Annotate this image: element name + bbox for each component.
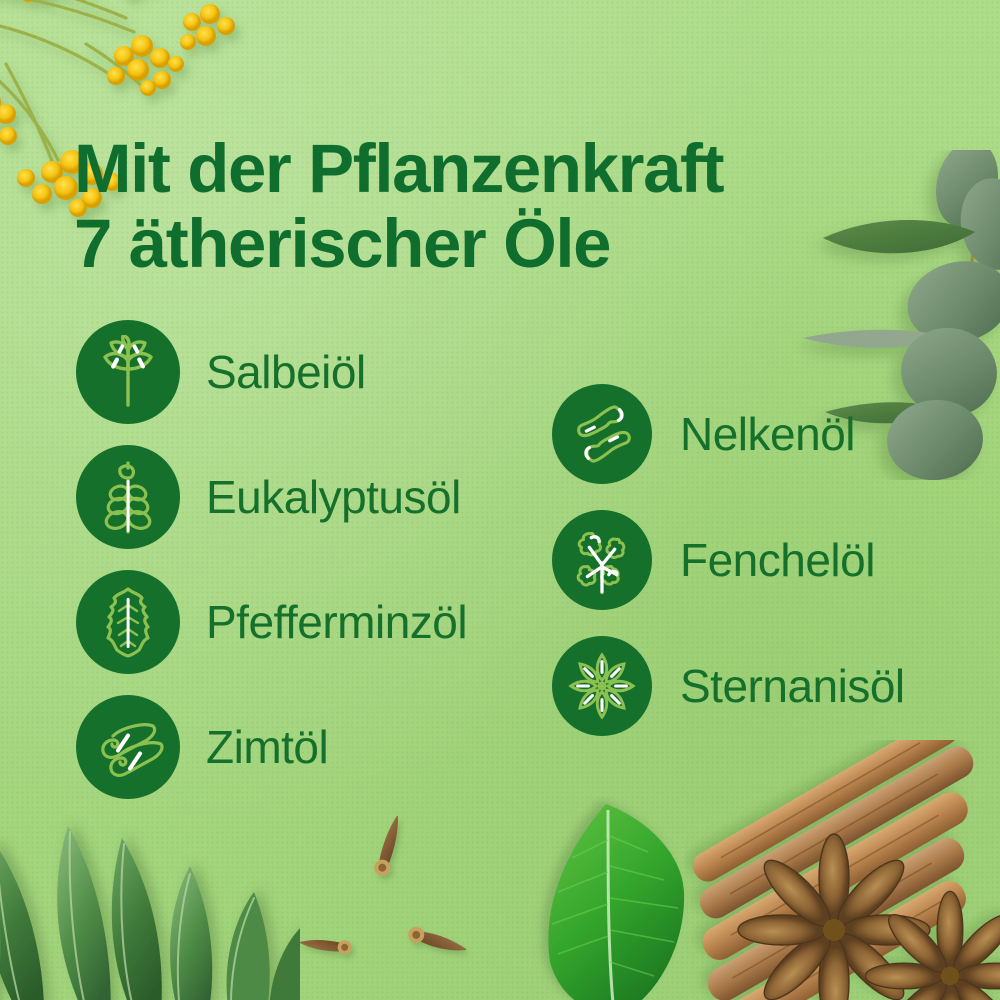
cinnamon-sticks-icon: [76, 695, 180, 799]
oil-label: Nelkenöl: [680, 407, 855, 461]
oil-item-sternanisoel: Sternanisöl: [552, 634, 905, 738]
oil-label: Eukalyptusöl: [206, 470, 461, 524]
clove-buds-icon: [552, 384, 652, 484]
page-title: Mit der Pflanzenkraft 7 ätherischer Öle: [74, 132, 974, 281]
fennel-flower-icon: [552, 510, 652, 610]
oil-list-right: Nelkenöl: [552, 382, 905, 760]
oil-item-zimtoel: Zimtöl: [76, 693, 467, 801]
oil-label: Sternanisöl: [680, 659, 905, 713]
peppermint-leaf-icon: [76, 570, 180, 674]
poster-canvas: Mit der Pflanzenkraft 7 ätherischer Öle: [0, 0, 1000, 1000]
sage-leaf-icon: [76, 320, 180, 424]
oil-item-pfefferminzoel: Pfefferminzöl: [76, 568, 467, 676]
oil-item-fenchceloel: Fenchelöl: [552, 508, 905, 612]
oil-item-nelkenoel: Nelkenöl: [552, 382, 905, 486]
star-anise-icon: [552, 636, 652, 736]
oil-label: Fenchelöl: [680, 533, 875, 587]
oil-label: Pfefferminzöl: [206, 595, 467, 649]
headline-line-2: 7 ätherischer Öle: [74, 207, 974, 282]
headline-line-1: Mit der Pflanzenkraft: [74, 130, 723, 207]
oil-item-eukalyptusoel: Eukalyptusöl: [76, 443, 467, 551]
oil-label: Salbeiöl: [206, 345, 366, 399]
eucalyptus-branch-icon: [76, 445, 180, 549]
oil-item-salbeioel: Salbeiöl: [76, 318, 467, 426]
oil-label: Zimtöl: [206, 720, 328, 774]
oil-list-left: Salbeiöl: [76, 318, 467, 801]
